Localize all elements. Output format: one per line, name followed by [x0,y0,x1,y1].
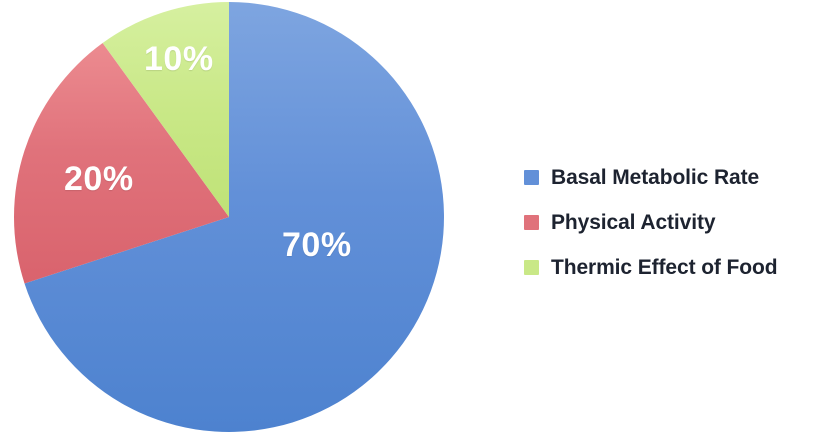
slice-label-basal-metabolic-rate: 70% [282,228,352,262]
legend-item-label: Basal Metabolic Rate [551,167,759,188]
legend-item-thermic-effect-of-food[interactable]: Thermic Effect of Food [524,245,820,290]
chart-legend: Basal Metabolic Rate Physical Activity T… [524,155,820,290]
legend-item-physical-activity[interactable]: Physical Activity [524,200,820,245]
slice-label-thermic-effect-of-food: 10% [144,42,214,76]
legend-item-label: Physical Activity [551,212,715,233]
slice-label-physical-activity: 20% [64,162,134,196]
legend-item-label: Thermic Effect of Food [551,257,777,278]
pie-plot-area: 70% 20% 10% [0,0,470,446]
pie-svg [0,0,470,446]
pie-slices [14,2,444,432]
pie-chart: 70% 20% 10% Basal Metabolic Rate Physica… [0,0,824,446]
legend-item-basal-metabolic-rate[interactable]: Basal Metabolic Rate [524,155,820,200]
legend-swatch-icon [524,170,539,185]
legend-swatch-icon [524,260,539,275]
legend-swatch-icon [524,215,539,230]
